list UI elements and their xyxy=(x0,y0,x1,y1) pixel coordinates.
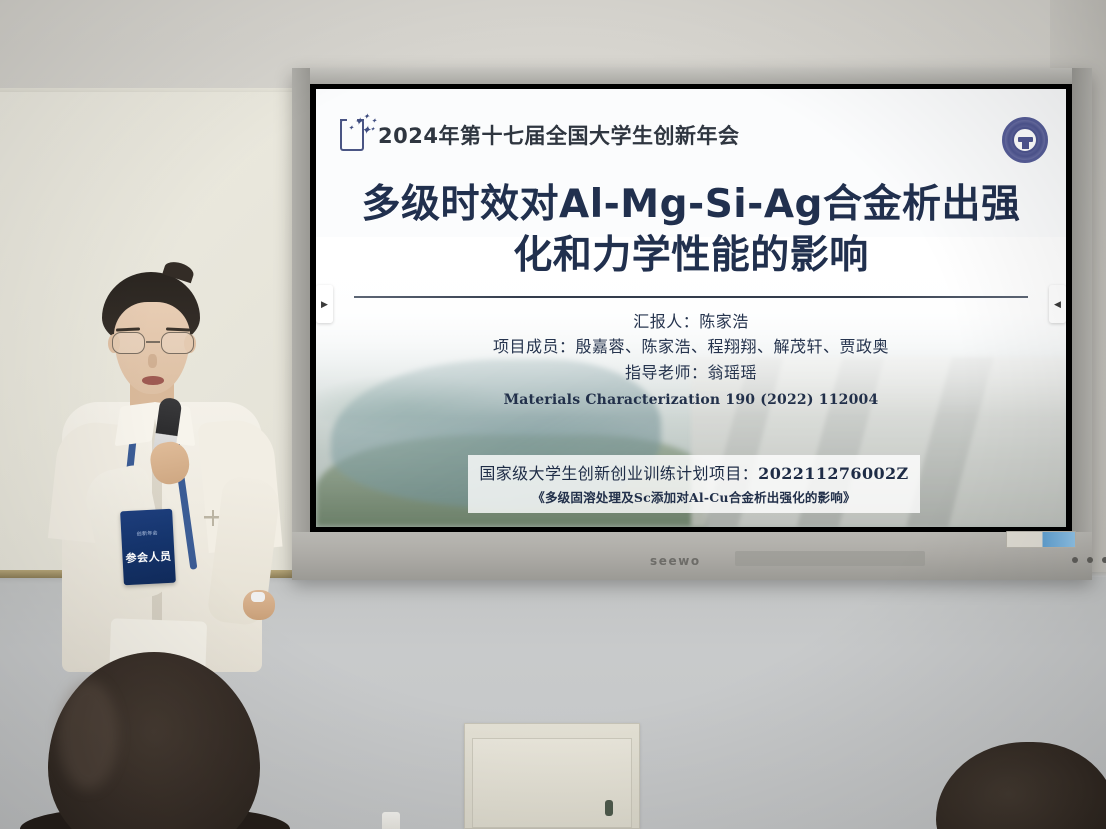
photo-scene: ✦ ✦ ✦ ✦ ✦ ✦ 2024年第十七届全国大学生创新年会 xyxy=(0,0,1106,829)
slide-title: 多级时效对Al-Mg-Si-Ag合金析出强 化和力学性能的影响 xyxy=(316,179,1066,282)
presenter: 创新年会 参会人员 xyxy=(56,272,271,672)
title-divider xyxy=(354,296,1028,298)
slide-meta: 汇报人：陈家浩 项目成员：殷嘉蓉、陈家浩、程翔翔、解茂轩、贾政奥 指导老师：翁瑶… xyxy=(316,309,1066,408)
presentation-slide: ✦ ✦ ✦ ✦ ✦ ✦ 2024年第十七届全国大学生创新年会 xyxy=(316,89,1066,527)
members-line: 项目成员：殷嘉蓉、陈家浩、程翔翔、解茂轩、贾政奥 xyxy=(316,334,1066,359)
badge-top-text: 创新年会 xyxy=(136,529,158,537)
display-label-sticker xyxy=(1006,531,1076,548)
small-white-object xyxy=(382,812,400,829)
display-bezel-right xyxy=(1072,68,1092,580)
presenter-mouth xyxy=(142,376,164,385)
presenter-line: 汇报人：陈家浩 xyxy=(316,309,1066,334)
slide-title-line2: 化和力学性能的影响 xyxy=(316,230,1066,281)
slide-header: ✦ ✦ ✦ ✦ ✦ ✦ 2024年第十七届全国大学生创新年会 xyxy=(316,109,1066,161)
slide-title-line1: 多级时效对Al-Mg-Si-Ag合金析出强 xyxy=(316,179,1066,230)
display-screen[interactable]: ✦ ✦ ✦ ✦ ✦ ✦ 2024年第十七届全国大学生创新年会 xyxy=(310,84,1072,532)
innovation-conference-logo-icon: ✦ ✦ ✦ ✦ ✦ ✦ xyxy=(338,115,372,155)
advisor-line: 指导老师：翁瑶瑶 xyxy=(316,360,1066,385)
presenter-collar-left xyxy=(115,402,158,447)
side-tab-left-icon: ▶ xyxy=(321,300,328,309)
ir-sensor-strip xyxy=(735,551,925,566)
journal-citation: Materials Characterization 190 (2022) 11… xyxy=(316,392,1066,408)
project-subtitle: 《多级固溶处理及Sc添加对Al-Cu合金析出强化的影响》 xyxy=(478,487,910,506)
display-bezel-left xyxy=(292,68,310,580)
project-info-box: 国家级大学生创新创业训练计划项目：202211276002Z 《多级固溶处理及S… xyxy=(468,455,920,513)
presenter-glasses xyxy=(110,332,196,354)
presentation-clicker xyxy=(251,592,265,602)
screen-side-tab-left[interactable]: ▶ xyxy=(316,285,333,323)
badge-role-text: 参会人员 xyxy=(125,547,172,565)
wall-access-panel xyxy=(464,723,640,829)
presenter-nose xyxy=(148,354,157,368)
display-bezel-bottom: seewo xyxy=(292,532,1092,580)
seewo-interactive-display[interactable]: ✦ ✦ ✦ ✦ ✦ ✦ 2024年第十七届全国大学生创新年会 xyxy=(292,68,1092,580)
university-emblem-icon xyxy=(1002,117,1048,163)
attendee-badge: 创新年会 参会人员 xyxy=(120,509,176,586)
access-panel-latch-icon xyxy=(605,800,613,816)
side-tab-right-icon: ◀ xyxy=(1054,300,1061,309)
seewo-brand-logo: seewo xyxy=(650,554,701,568)
screen-side-tab-right[interactable]: ◀ xyxy=(1049,285,1066,323)
conference-banner-text: 2024年第十七届全国大学生创新年会 xyxy=(378,120,739,150)
display-bezel-top xyxy=(292,68,1092,84)
display-indicator-dots xyxy=(1072,557,1106,563)
project-label: 国家级大学生创新创业训练计划项目： xyxy=(479,464,758,483)
project-number: 202211276002Z xyxy=(758,464,908,483)
